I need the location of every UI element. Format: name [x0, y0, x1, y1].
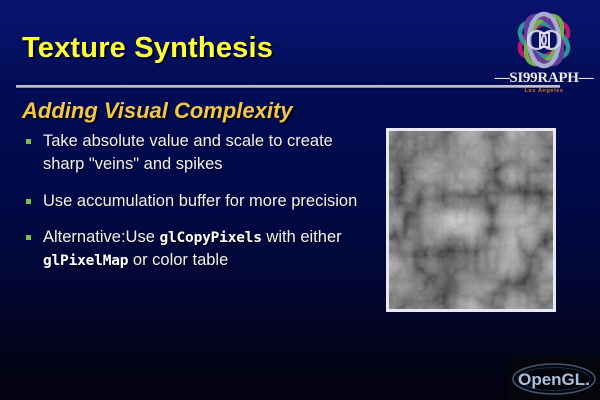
- list-item-text: Use accumulation buffer for more precisi…: [43, 190, 357, 213]
- text-run: Use accumulation buffer for more precisi…: [43, 192, 357, 210]
- list-item-text: Take absolute value and scale to create …: [43, 130, 376, 176]
- list-item: Alternative:Use glCopyPixels with either…: [26, 226, 376, 272]
- list-item: Use accumulation buffer for more precisi…: [26, 190, 376, 213]
- list-item-text: Alternative:Use glCopyPixels with either…: [43, 226, 376, 272]
- code-token: glPixelMap: [43, 253, 128, 269]
- slide-subtitle: Adding Visual Complexity: [22, 98, 293, 124]
- page-title: Texture Synthesis: [22, 32, 273, 65]
- bullet-marker-icon: [26, 199, 31, 204]
- siggraph-logo: —SI99RAPH— Los Angeles: [492, 8, 596, 104]
- siggraph-rings-icon: [500, 8, 588, 72]
- presentation-slide: Texture Synthesis Adding Visual Complexi…: [0, 0, 600, 400]
- opengl-logo-icon: OpenGL.: [508, 358, 600, 400]
- opengl-wordmark: OpenGL.: [518, 370, 590, 389]
- siggraph-wordmark: —SI99RAPH—: [492, 70, 596, 87]
- texture-image: [389, 131, 553, 309]
- text-run: or color table: [128, 251, 228, 269]
- siggraph-city-label: Los Angeles: [492, 88, 596, 94]
- text-run: Take absolute value and scale to create …: [43, 132, 333, 173]
- code-token: glCopyPixels: [159, 230, 261, 246]
- bullet-marker-icon: [26, 235, 31, 240]
- title-divider-rule: [16, 85, 560, 88]
- opengl-logo: OpenGL.: [508, 358, 600, 400]
- bullet-marker-icon: [26, 139, 31, 144]
- text-run: Alternative:Use: [43, 228, 159, 246]
- bullet-list: Take absolute value and scale to create …: [26, 130, 376, 286]
- list-item: Take absolute value and scale to create …: [26, 130, 376, 176]
- text-run: with either: [262, 228, 342, 246]
- texture-image-frame: [386, 128, 556, 312]
